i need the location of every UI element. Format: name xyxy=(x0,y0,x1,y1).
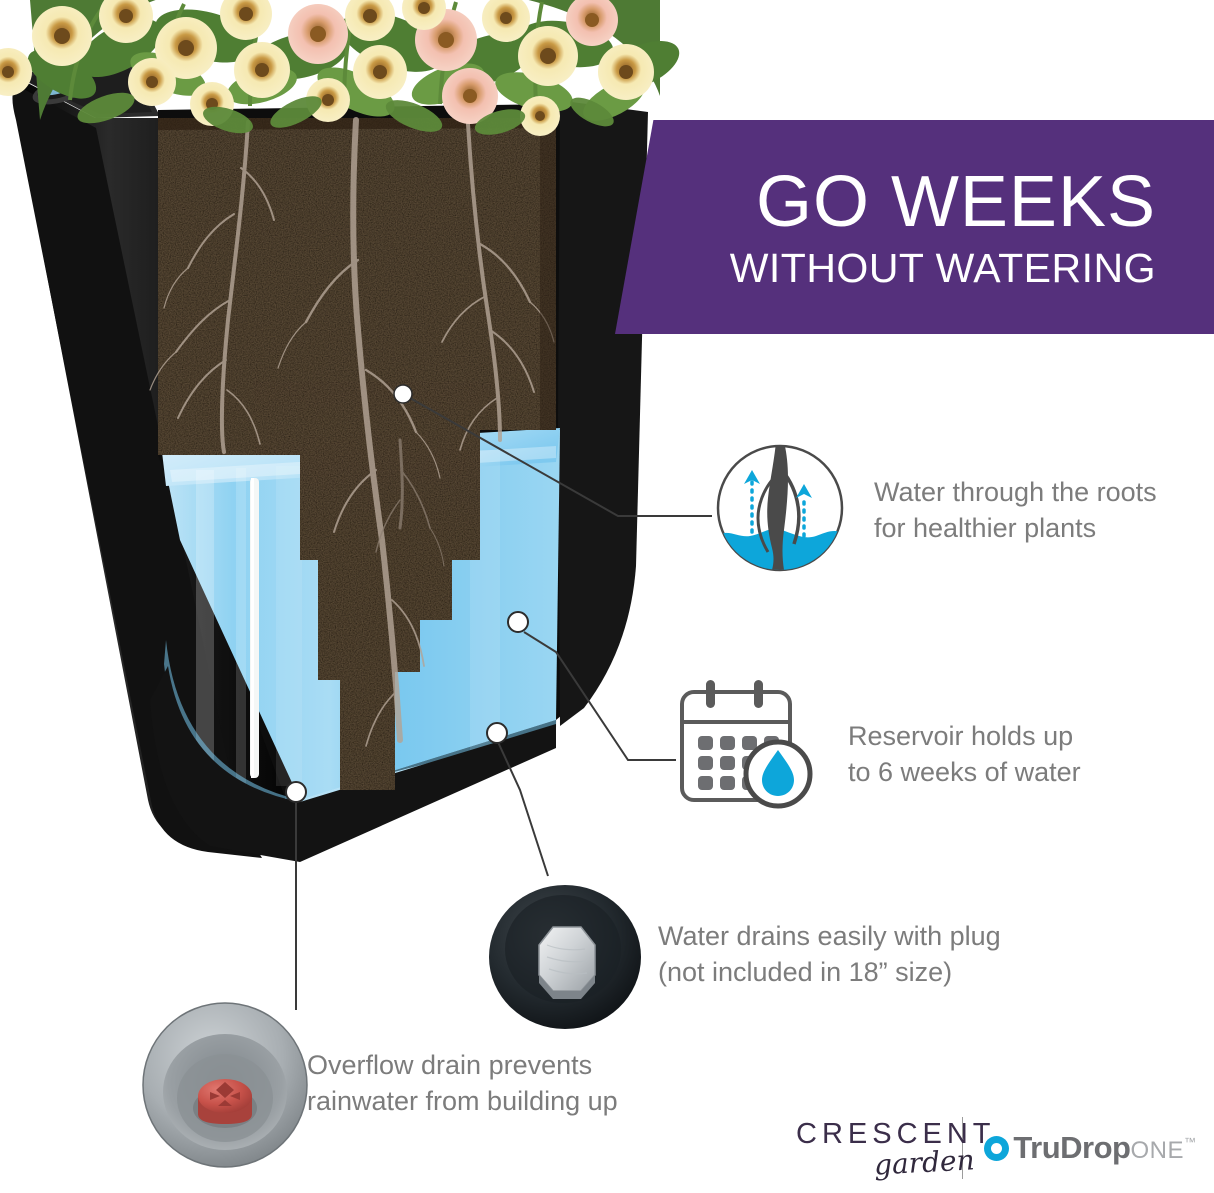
drain-plug-photo xyxy=(485,875,645,1035)
planter-cutaway-illustration xyxy=(0,0,680,880)
overflow-line-2: rainwater from building up xyxy=(307,1083,618,1119)
subheadline-text: WITHOUT WATERING xyxy=(730,244,1156,292)
trudrop-one-wordmark: ONE xyxy=(1130,1137,1184,1165)
plug-line-1: Water drains easily with plug xyxy=(658,921,1001,951)
infographic-page: GO WEEKS WITHOUT WATERING xyxy=(0,0,1214,1193)
trudrop-ring-icon xyxy=(984,1136,1009,1161)
roots-water-uptake-icon xyxy=(712,440,848,576)
plug-line-2: (not included in 18” size) xyxy=(658,954,1001,990)
crescent-garden-logo: CRESCENT garden xyxy=(796,1110,940,1186)
trudrop-one-logo: TruDrop ONE ™ xyxy=(984,1130,1196,1166)
feature-text-reservoir: Reservoir holds up to 6 weeks of water xyxy=(848,718,1081,790)
headline-text: GO WEEKS xyxy=(756,162,1156,242)
overflow-line-1: Overflow drain prevents xyxy=(307,1050,592,1080)
garden-script-wordmark: garden xyxy=(873,1143,975,1181)
footer-logos: CRESCENT garden TruDrop ONE ™ xyxy=(796,1108,1196,1188)
calendar-water-drop-icon xyxy=(676,678,820,814)
feature-text-plug: Water drains easily with plug (not inclu… xyxy=(658,918,1001,990)
roots-line-2: for healthier plants xyxy=(874,510,1157,546)
trademark-symbol: ™ xyxy=(1184,1135,1196,1149)
roots-line-1: Water through the roots xyxy=(874,477,1157,507)
feature-text-roots: Water through the roots for healthier pl… xyxy=(874,474,1157,546)
headline-banner: GO WEEKS WITHOUT WATERING xyxy=(655,120,1214,334)
overflow-drain-photo xyxy=(140,1000,310,1170)
reservoir-line-1: Reservoir holds up xyxy=(848,721,1073,751)
trudrop-wordmark: TruDrop xyxy=(1013,1130,1130,1166)
reservoir-line-2: to 6 weeks of water xyxy=(848,754,1081,790)
feature-text-overflow: Overflow drain prevents rainwater from b… xyxy=(307,1047,618,1119)
